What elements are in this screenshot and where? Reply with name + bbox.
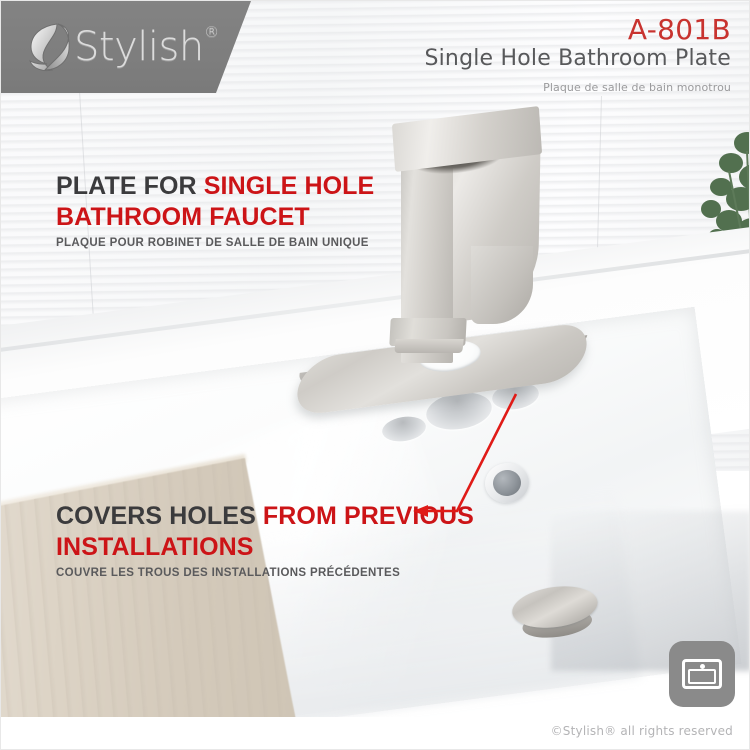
callout-plate-for-single-hole: PLATE FOR SINGLE HOLE BATHROOM FAUCET PL…	[56, 171, 374, 249]
callout-line-1: PLATE FOR SINGLE HOLE	[56, 171, 374, 202]
brand-wordmark: Stylish ®	[74, 27, 204, 67]
sink-bowl-icon	[688, 669, 716, 684]
registered-trademark-icon: ®	[204, 25, 219, 40]
red-pointer-arrow	[401, 386, 551, 536]
product-photo-scene	[1, 1, 750, 750]
brand-name-text: Stylish	[74, 24, 204, 70]
callout-line-2: INSTALLATIONS	[56, 532, 474, 563]
callout-dark-text: PLATE FOR	[56, 172, 204, 200]
bathroom-sink-icon	[682, 659, 722, 689]
callout-dark-text: COVERS HOLES	[56, 502, 263, 530]
callout-red-text: SINGLE HOLE	[204, 172, 375, 200]
callout-subtitle-french: PLAQUE POUR ROBINET DE SALLE DE BAIN UNI…	[56, 237, 374, 249]
product-name-french: Plaque de salle de bain monotrou	[424, 81, 731, 95]
callout-line-2: BATHROOM FAUCET	[56, 202, 374, 233]
product-title-block: A-801B Single Hole Bathroom Plate Plaque…	[424, 15, 731, 95]
callout-subtitle-french: COUVRE LES TROUS DES INSTALLATIONS PRÉCÉ…	[56, 567, 474, 579]
stylish-s-logo-icon	[27, 21, 71, 73]
faucet-base-lower	[394, 339, 463, 353]
bathroom-sink-badge	[669, 641, 735, 707]
footer-bar: ©Stylish® all rights reserved	[1, 717, 750, 749]
single-hole-waterfall-faucet	[371, 111, 591, 381]
pop-up-drain-stopper	[510, 581, 603, 648]
model-number: A-801B	[424, 15, 731, 44]
brand-logo: Stylish ®	[1, 1, 251, 93]
copyright-text: ©Stylish® all rights reserved	[551, 724, 733, 738]
faucet-spout-face	[471, 246, 533, 324]
product-name: Single Hole Bathroom Plate	[424, 45, 731, 73]
product-marketing-image: Stylish ® A-801B Single Hole Bathroom Pl…	[0, 0, 750, 750]
